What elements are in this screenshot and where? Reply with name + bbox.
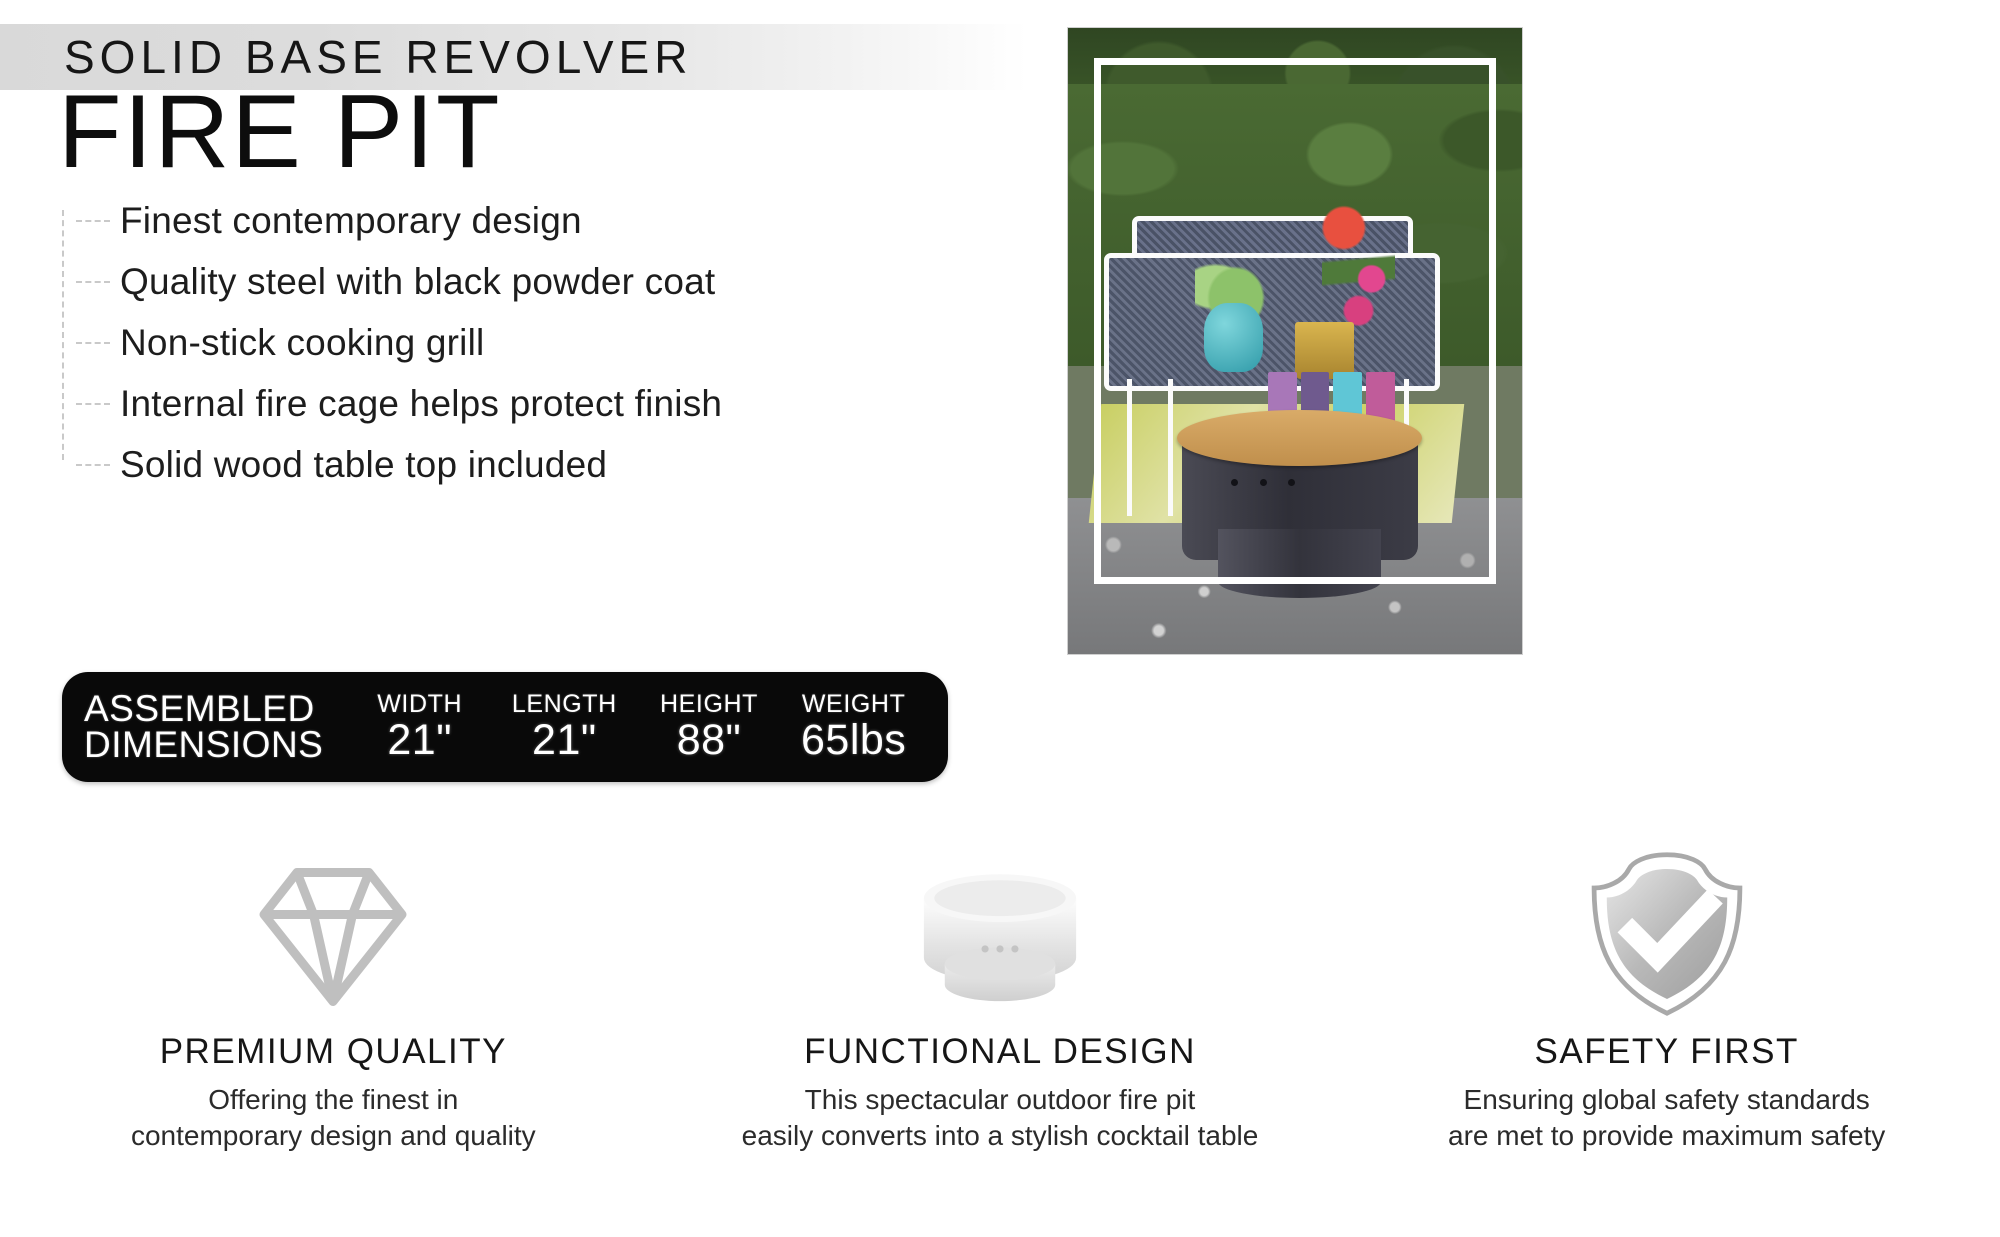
benefits-row: PREMIUM QUALITY Offering the finest in c…	[0, 840, 2000, 1237]
dimensions-label-line2: DIMENSIONS	[84, 727, 323, 763]
dimension-value: 21"	[492, 718, 637, 763]
page-title: FIRE PIT	[58, 80, 502, 184]
feature-label: Quality steel with black powder coat	[120, 261, 715, 303]
benefit-title: FUNCTIONAL DESIGN	[804, 1032, 1196, 1072]
dimension-name: WEIGHT	[781, 691, 926, 718]
dash-connector-icon	[76, 342, 110, 344]
feature-item: Internal fire cage helps protect finish	[62, 373, 1022, 434]
photo-chair-leg	[1127, 379, 1132, 517]
dimension-name: LENGTH	[492, 691, 637, 718]
feature-item: Quality steel with black powder coat	[62, 251, 1022, 312]
feature-item: Non-stick cooking grill	[62, 312, 1022, 373]
dash-connector-icon	[76, 281, 110, 283]
fire-pit-table-icon	[900, 840, 1100, 1028]
photo-flowers	[1322, 203, 1395, 341]
dimension-column-length: LENGTH 21"	[492, 691, 637, 763]
benefit-description: Offering the finest in contemporary desi…	[131, 1082, 536, 1154]
dimension-column-height: HEIGHT 88"	[637, 691, 782, 763]
vent-hole-icon	[1260, 479, 1267, 486]
benefit-premium-quality: PREMIUM QUALITY Offering the finest in c…	[0, 840, 667, 1237]
diamond-icon	[258, 840, 408, 1028]
dimensions-label: ASSEMBLED DIMENSIONS	[84, 691, 323, 763]
dimension-value: 65lbs	[781, 718, 926, 763]
benefit-description: Ensuring global safety standards are met…	[1448, 1082, 1885, 1154]
feature-item: Finest contemporary design	[62, 190, 1022, 251]
feature-label: Internal fire cage helps protect finish	[120, 383, 722, 425]
dimensions-label-line1: ASSEMBLED	[84, 691, 323, 727]
dimension-column-width: WIDTH 21"	[347, 691, 492, 763]
feature-label: Solid wood table top included	[120, 444, 607, 486]
photo-planter-pot	[1204, 303, 1263, 372]
feature-list: Finest contemporary design Quality steel…	[62, 190, 1022, 495]
photo-firepit-wood-top	[1177, 410, 1422, 466]
dimension-name: HEIGHT	[637, 691, 782, 718]
feature-label: Non-stick cooking grill	[120, 322, 484, 364]
shield-check-icon	[1587, 840, 1747, 1028]
dimension-column-weight: WEIGHT 65lbs	[781, 691, 926, 763]
feature-item: Solid wood table top included	[62, 434, 1022, 495]
dimensions-columns: WIDTH 21" LENGTH 21" HEIGHT 88" WEIGHT 6…	[347, 691, 926, 763]
dash-connector-icon	[76, 220, 110, 222]
photo-gold-vase	[1295, 322, 1354, 378]
vent-hole-icon	[1288, 479, 1295, 486]
vent-hole-icon	[1231, 479, 1238, 486]
dimension-name: WIDTH	[347, 691, 492, 718]
photo-chair-leg	[1168, 379, 1173, 517]
photo-firepit-base	[1218, 529, 1381, 598]
dash-connector-icon	[76, 403, 110, 405]
benefit-title: SAFETY FIRST	[1535, 1032, 1799, 1072]
product-photo	[1068, 28, 1522, 654]
photo-firepit-vents	[1231, 479, 1295, 487]
dimension-value: 21"	[347, 718, 492, 763]
benefit-title: PREMIUM QUALITY	[160, 1032, 507, 1072]
benefit-description: This spectacular outdoor fire pit easily…	[742, 1082, 1259, 1154]
assembled-dimensions-bar: ASSEMBLED DIMENSIONS WIDTH 21" LENGTH 21…	[62, 672, 948, 782]
benefit-safety-first: SAFETY FIRST Ensuring global safety stan…	[1333, 840, 2000, 1237]
dash-connector-icon	[76, 464, 110, 466]
benefit-functional-design: FUNCTIONAL DESIGN This spectacular outdo…	[667, 840, 1334, 1237]
feature-label: Finest contemporary design	[120, 200, 582, 242]
dimension-value: 88"	[637, 718, 782, 763]
